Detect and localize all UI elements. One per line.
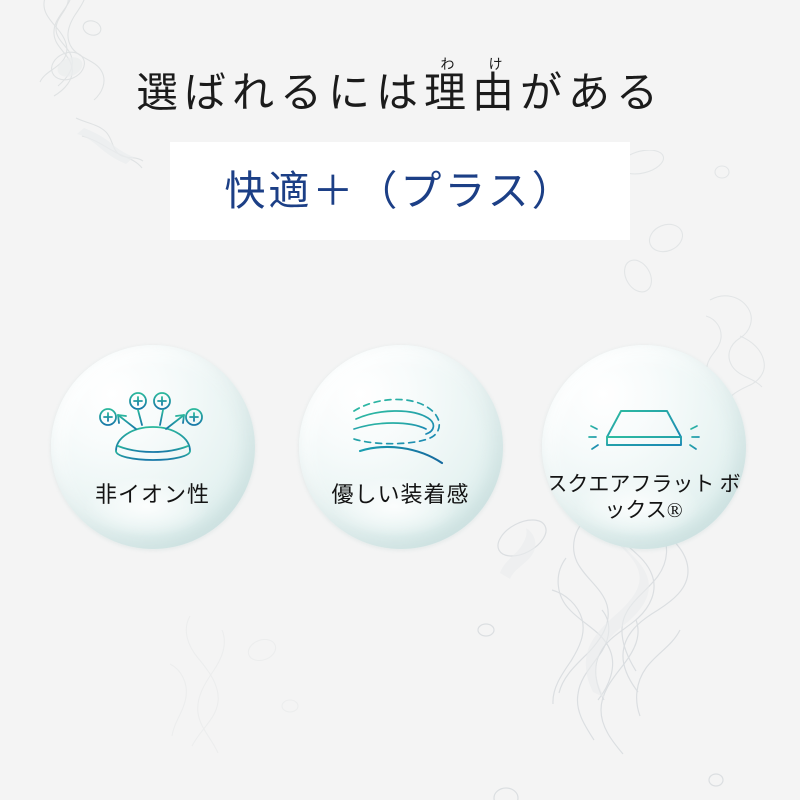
feature-label: 非イオン性 (51, 481, 255, 509)
subtitle-box: 快適＋（プラス） (170, 142, 630, 240)
feature-item-square-flat-box: スクエアフラット ボックス® 厚さわずか11mmの スリムパッケージ採用 (521, 345, 766, 645)
feature-label: スクエアフラット ボックス® (542, 471, 746, 524)
feature-label: 優しい装着感 (299, 481, 503, 509)
subtitle-text: 快適＋（プラス） (224, 171, 575, 212)
headline-ruby-base-2: 由 (472, 71, 520, 117)
feature-label-line-1: スクエアフラット (546, 472, 714, 496)
headline-ruby-1: 理わ (424, 71, 472, 117)
non-ionic-lens-icon (94, 389, 212, 467)
feature-item-smooth-edge: 優しい装着感 滑らかエッジで 瞳に酸素が届きやすい (278, 345, 523, 645)
headline-part-1: 選ばれるには (136, 71, 424, 117)
feature-bubble: 非イオン性 (51, 345, 255, 549)
headline-ruby-text-1: わ (424, 58, 472, 73)
headline-ruby-2: 由け (472, 71, 520, 117)
promo-banner: 選ばれるには理わ由けがある 快適＋（プラス） (0, 0, 800, 800)
headline-ruby-text-2: け (472, 58, 520, 73)
feature-bubble: 優しい装着感 (299, 345, 503, 549)
feature-bubble: スクエアフラット ボックス® (542, 345, 746, 549)
smooth-edge-icon (342, 389, 460, 467)
headline-part-2: がある (520, 71, 664, 117)
feature-list: 非イオン性 汚れにくく、 耐久性に優れています (0, 345, 800, 645)
feature-item-non-ionic: 非イオン性 汚れにくく、 耐久性に優れています (30, 345, 275, 645)
square-flat-box-icon (585, 389, 703, 467)
headline-ruby-base-1: 理 (424, 71, 472, 117)
page-headline: 選ばれるには理わ由けがある (0, 58, 800, 115)
